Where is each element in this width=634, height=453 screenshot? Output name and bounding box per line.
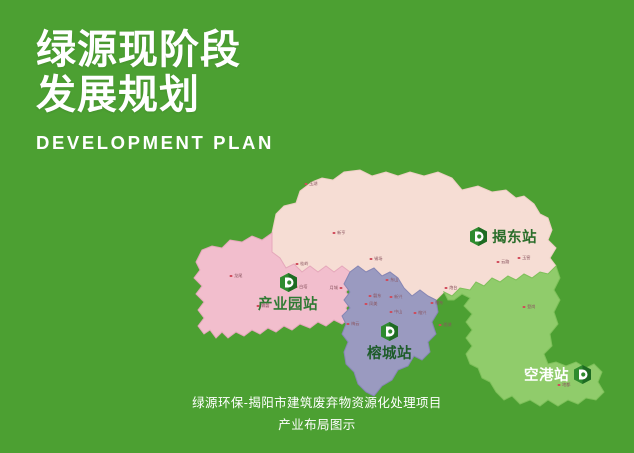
lvyuan-logo-icon	[574, 365, 591, 384]
title-line-1: 绿源现阶段	[36, 28, 274, 73]
city-dot-icon	[518, 257, 521, 260]
city-label: 渔湖	[443, 322, 451, 328]
city-marker: 新兴	[390, 294, 403, 300]
city-dot-icon	[370, 258, 373, 261]
city-label: 登岗	[527, 304, 535, 310]
city-marker: 玉湖	[305, 181, 318, 187]
city-label: 玉湖	[309, 181, 317, 187]
poster-canvas: 玉湖新亨锡场桂岭龙尾白塔月城霖磐磐东凤美东山新兴中山榕兴榕东梅云渔湖炮台云路玉窖…	[0, 0, 634, 453]
city-marker: 新亨	[333, 230, 346, 236]
city-marker: 磐东	[369, 293, 382, 299]
city-label: 新亨	[337, 230, 345, 236]
city-dot-icon	[365, 303, 368, 306]
city-marker: 炮台	[445, 285, 458, 291]
poster-caption: 绿源环保-揭阳市建筑废弃物资源化处理项目 产业布局图示	[0, 393, 634, 437]
city-marker: 榕东	[431, 300, 444, 306]
station-label-rongcheng[interactable]: 榕城站	[367, 322, 412, 363]
city-label: 榕兴	[418, 310, 426, 316]
caption-line-2: 产业布局图示	[0, 415, 634, 437]
station-label-chanyeyuan[interactable]: 产业园站	[258, 273, 318, 314]
city-marker: 锡场	[370, 256, 383, 262]
city-marker: 渔湖	[439, 322, 452, 328]
city-dot-icon	[230, 275, 233, 278]
city-label: 桂岭	[300, 261, 308, 267]
caption-line-1: 绿源环保-揭阳市建筑废弃物资源化处理项目	[0, 393, 634, 415]
city-label: 梅云	[351, 321, 359, 327]
city-label: 龙尾	[234, 273, 242, 279]
city-label: 新兴	[394, 294, 402, 300]
city-marker: 梅云	[347, 321, 360, 327]
city-label: 东山	[390, 277, 398, 283]
city-dot-icon	[390, 296, 393, 299]
lvyuan-logo-icon	[470, 227, 487, 246]
city-label: 凤美	[369, 301, 377, 307]
city-dot-icon	[523, 306, 526, 309]
city-dot-icon	[386, 279, 389, 282]
city-label: 中山	[394, 309, 402, 315]
city-label: 月城	[330, 285, 338, 291]
city-label: 锡场	[374, 256, 382, 262]
city-dot-icon	[445, 287, 448, 290]
city-dot-icon	[414, 312, 417, 315]
city-label: 榕东	[435, 300, 443, 306]
city-dot-icon	[296, 263, 299, 266]
city-marker: 云路	[497, 259, 510, 265]
city-dot-icon	[390, 311, 393, 314]
city-dot-icon	[439, 324, 442, 327]
poster-subtitle: DEVELOPMENT PLAN	[36, 132, 274, 154]
station-label-jiedong[interactable]: 揭东站	[470, 226, 537, 247]
city-dot-icon	[369, 295, 372, 298]
station-name-text: 榕城站	[367, 342, 412, 363]
city-marker: 凤美	[365, 301, 378, 307]
city-dot-icon	[431, 302, 434, 305]
city-dot-icon	[347, 323, 350, 326]
city-label: 磐东	[373, 293, 381, 299]
city-marker: 玉窖	[518, 255, 531, 261]
city-dot-icon	[340, 287, 343, 290]
city-label: 玉窖	[522, 255, 530, 261]
city-marker: 登岗	[523, 304, 536, 310]
city-marker: 月城	[330, 285, 343, 291]
station-label-konggang[interactable]: 空港站	[524, 364, 591, 385]
station-name-text: 产业园站	[258, 293, 318, 314]
city-dot-icon	[305, 183, 308, 186]
city-marker: 龙尾	[230, 273, 243, 279]
title-line-2: 发展规划	[36, 73, 274, 118]
lvyuan-logo-icon	[280, 273, 297, 292]
city-dot-icon	[333, 232, 336, 235]
city-label: 云路	[501, 259, 509, 265]
city-marker: 中山	[390, 309, 403, 315]
city-marker: 东山	[386, 277, 399, 283]
city-marker: 桂岭	[296, 261, 309, 267]
lvyuan-logo-icon	[381, 322, 398, 341]
poster-heading: 绿源现阶段 发展规划 DEVELOPMENT PLAN	[36, 28, 274, 154]
city-dot-icon	[497, 261, 500, 264]
station-name-text: 揭东站	[492, 226, 537, 247]
station-name-text: 空港站	[524, 364, 569, 385]
city-label: 炮台	[449, 285, 457, 291]
city-marker: 榕兴	[414, 310, 427, 316]
